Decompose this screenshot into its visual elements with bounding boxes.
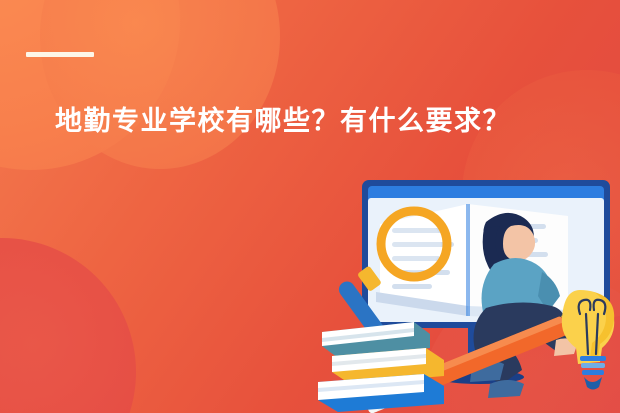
accent-rule <box>26 52 94 57</box>
book-stack-icon <box>318 322 444 412</box>
background-blob-top-left <box>0 0 180 170</box>
background-blob-upper-mid <box>40 0 280 169</box>
lightbulb-icon <box>562 290 614 390</box>
page-title: 地勤专业学校有哪些？有什么要求？ <box>55 104 511 138</box>
banner: 地勤专业学校有哪些？有什么要求？ <box>0 0 620 413</box>
study-search-illustration <box>318 168 620 413</box>
background-blob-bottom-left <box>0 238 136 413</box>
